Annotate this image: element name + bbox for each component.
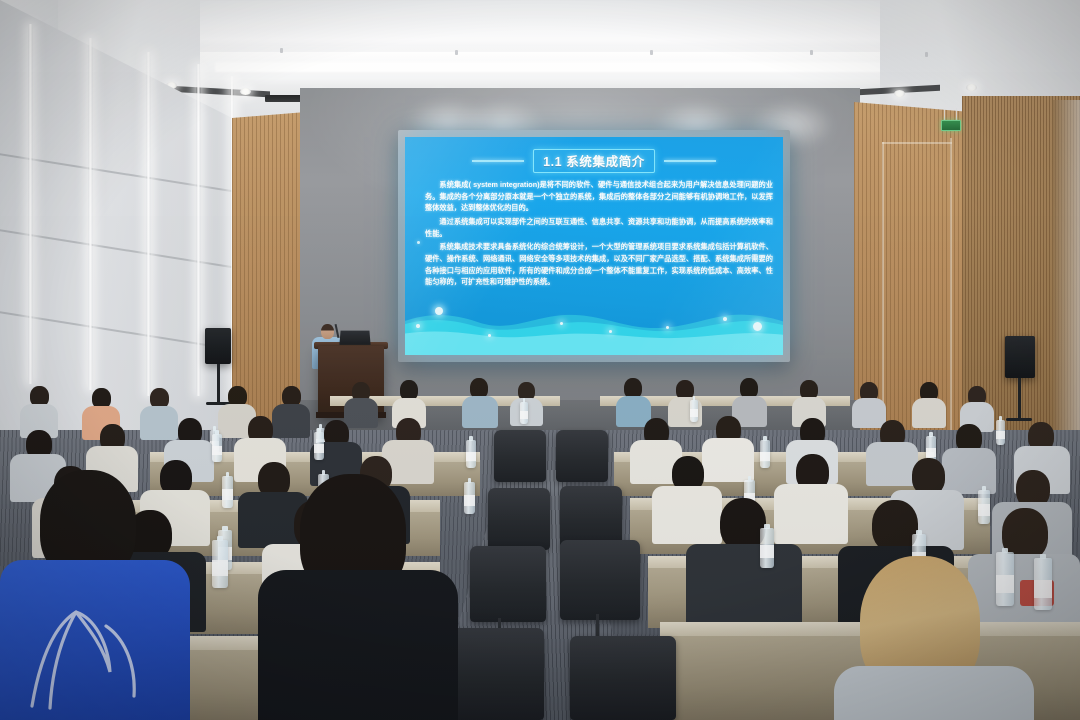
ceiling-fixture-nub [810, 50, 813, 55]
speaker-stand-left [217, 364, 220, 404]
chair [488, 488, 550, 550]
chair [556, 430, 608, 482]
slide-body-text: 系统集成( system integration)是将不同的软件、硬件与通信技术… [425, 179, 773, 290]
slide-wave-graphic [405, 293, 783, 355]
bullet-icon [417, 241, 420, 244]
attendee-torso [140, 406, 178, 440]
wall-light-strip [88, 38, 93, 390]
bottle-label [926, 448, 936, 458]
water-bottle [212, 540, 228, 588]
bottle-label [212, 446, 222, 456]
door-seam [950, 138, 952, 430]
slide-paragraph: 通过系统集成可以实现部件之间的互联互通性、信息共享、资源共享和功能协调，从而提高… [425, 216, 773, 239]
slide-paragraph: 系统集成技术要求具备系统化的综合统筹设计，一个大型的管理系统项目要求系统集成包括… [425, 241, 773, 288]
exit-sign-rod [956, 108, 957, 120]
chair-front [444, 628, 544, 720]
speaker-base-right [1006, 418, 1032, 421]
chair [560, 486, 622, 548]
attendee-torso [912, 398, 946, 428]
glow-dot [753, 322, 762, 331]
slide-paragraph: 系统集成( system integration)是将不同的软件、硬件与通信技术… [425, 179, 773, 214]
right-wall-corner-highlight [1052, 100, 1080, 480]
water-bottle [464, 482, 475, 514]
slide-title-row: 1.1 系统集成简介 [405, 149, 783, 173]
bottle-label [222, 489, 233, 500]
ceiling-fixture-nub [925, 52, 928, 57]
bottle-label [760, 452, 770, 462]
bottle-label [1034, 580, 1052, 598]
chair-front [570, 636, 676, 720]
presenter-head [321, 324, 334, 339]
water-bottle [520, 402, 528, 424]
water-bottle [690, 400, 698, 422]
glow-dot [723, 317, 727, 321]
water-bottle [222, 476, 233, 508]
wave-front [405, 323, 783, 355]
shirt-print-graphic [14, 596, 164, 720]
bottle-label [464, 495, 475, 506]
bottle-label [996, 431, 1005, 440]
speaker-stand-right [1018, 378, 1021, 420]
downlight [894, 90, 905, 97]
presentation-screen-bezel: 1.1 系统集成简介 系统集成( system integration)是将不同… [398, 130, 790, 362]
wall-light-strip [146, 52, 151, 396]
attendee-torso [462, 396, 498, 428]
bottle-label [690, 409, 698, 416]
bottle-label [212, 560, 228, 576]
slide-title: 1.1 系统集成简介 [543, 151, 645, 170]
door-header-seam [882, 142, 952, 144]
wall-light-strip [28, 24, 33, 384]
water-bottle [314, 432, 324, 460]
conference-room-photo: 1.1 系统集成简介 系统集成( system integration)是将不同… [0, 0, 1080, 720]
door-seam [882, 142, 884, 432]
ceiling-fixture-nub [280, 48, 283, 53]
bottle-label [314, 444, 324, 454]
foreground-attendee-torso [258, 570, 458, 720]
attendee-torso [866, 442, 918, 486]
water-bottle [760, 440, 770, 468]
attendee-torso [774, 484, 848, 544]
glow-dot [560, 322, 563, 325]
ceiling-cove-glow [215, 62, 895, 72]
downlight [240, 88, 251, 95]
water-bottle [996, 552, 1014, 606]
attendee-torso [272, 404, 310, 438]
attendee-torso [852, 398, 886, 428]
attendee-torso [344, 398, 378, 428]
pa-speaker-right [1005, 336, 1035, 378]
presentation-screen[interactable]: 1.1 系统集成简介 系统集成( system integration)是将不同… [405, 137, 783, 355]
attendee-torso [702, 438, 754, 482]
ceiling-fixture-nub [650, 50, 653, 55]
emergency-exit-sign [941, 120, 961, 131]
water-bottle [1034, 558, 1052, 610]
pa-speaker-left [205, 328, 231, 364]
ceiling-fixture-nub [455, 50, 458, 55]
title-dash-right [664, 160, 716, 162]
bottle-label [978, 504, 990, 516]
laptop-on-podium [339, 331, 370, 345]
bottle-label [996, 575, 1014, 593]
slide-paragraph-text: 系统集成技术要求具备系统化的综合统筹设计，一个大型的管理系统项目要求系统集成包括… [425, 242, 773, 286]
wall-light-strip [196, 64, 201, 396]
glow-dot [666, 326, 669, 329]
water-bottle [760, 528, 774, 568]
attendee-torso [686, 544, 802, 630]
chair [560, 540, 640, 620]
water-bottle [996, 420, 1005, 445]
slide-title-box: 1.1 系统集成简介 [533, 149, 655, 173]
title-dash-left [472, 160, 524, 162]
attendee-torso [942, 448, 996, 494]
chair [494, 430, 546, 482]
water-bottle [978, 490, 990, 524]
bottle-label [466, 452, 476, 462]
bottle-label [520, 411, 528, 418]
water-bottle [466, 440, 476, 468]
bottle-label [760, 545, 774, 559]
chair [470, 546, 546, 622]
attendee-torso [652, 486, 722, 544]
downlight [966, 84, 977, 91]
water-bottle [212, 434, 222, 462]
exit-sign-rod [944, 108, 945, 120]
foreground-attendee-torso [834, 666, 1034, 720]
